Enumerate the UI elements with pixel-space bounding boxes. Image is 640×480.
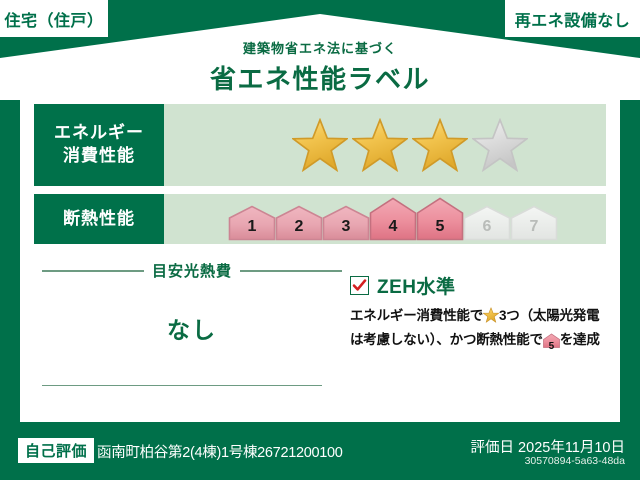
house-level-number: 2 bbox=[275, 218, 323, 236]
energy-performance-value bbox=[164, 104, 606, 186]
evaluation-date: 評価日 2025年11月10日 bbox=[471, 436, 625, 457]
utility-cost-block: 目安光熱費 なし bbox=[42, 260, 342, 345]
house-level-number: 3 bbox=[322, 218, 370, 236]
check-icon bbox=[352, 278, 367, 293]
heading-rule-right bbox=[240, 270, 342, 272]
label-panel: エネルギー 消費性能 断熱性能 1234567 目安光熱費 なし bbox=[20, 92, 620, 422]
badge-building-type: 住宅（住戸） bbox=[0, 0, 108, 37]
house-level-5: 5 bbox=[416, 197, 464, 241]
insulation-performance-row: 断熱性能 1234567 bbox=[34, 194, 606, 244]
house-level-number: 4 bbox=[369, 218, 417, 236]
zeh-desc-part-1: エネルギー消費性能で bbox=[350, 308, 483, 323]
zeh-title: ZEH水準 bbox=[377, 272, 456, 299]
utility-cost-heading-text: 目安光熱費 bbox=[152, 260, 232, 281]
utility-cost-value: なし bbox=[42, 311, 342, 345]
energy-label-line-2: 消費性能 bbox=[63, 145, 135, 168]
house-level-2: 2 bbox=[275, 205, 323, 241]
cost-bottom-divider bbox=[42, 385, 322, 386]
insulation-performance-value: 1234567 bbox=[164, 194, 606, 244]
house-level-4: 4 bbox=[369, 197, 417, 241]
zeh-block: ZEH水準 エネルギー消費性能で 3つ（太陽光発電は考慮しない）、かつ断熱性能で… bbox=[350, 272, 610, 355]
star-rating bbox=[292, 117, 528, 173]
title-subtitle: 建築物省エネ法に基づく bbox=[0, 38, 640, 57]
star-empty bbox=[472, 117, 528, 173]
zeh-checkbox[interactable] bbox=[350, 276, 369, 295]
zeh-desc-part-3: を達成 bbox=[560, 332, 600, 347]
energy-label-line-1: エネルギー bbox=[54, 122, 144, 145]
house-level-1: 1 bbox=[228, 205, 276, 241]
house-level-6: 6 bbox=[463, 205, 511, 241]
heading-rule-left bbox=[42, 270, 144, 272]
star-filled bbox=[292, 117, 348, 173]
house-level-number: 5 bbox=[416, 218, 464, 236]
zeh-heading: ZEH水準 bbox=[350, 272, 610, 299]
energy-performance-label: エネルギー 消費性能 bbox=[34, 104, 164, 186]
energy-label-page: { "badges": { "top_left": "住宅（住戸）", "top… bbox=[0, 0, 640, 480]
mini-star-icon bbox=[483, 307, 499, 330]
lower-section: 目安光熱費 なし ZEH水準 エネルギー消費性能で 3つ（太陽光発電は考慮しない… bbox=[20, 252, 620, 422]
insulation-performance-label: 断熱性能 bbox=[34, 194, 164, 244]
house-level-3: 3 bbox=[322, 205, 370, 241]
house-scale: 1234567 bbox=[228, 197, 557, 241]
star-filled bbox=[412, 117, 468, 173]
mini-house-icon: 5 bbox=[543, 333, 560, 355]
utility-cost-heading: 目安光熱費 bbox=[42, 260, 342, 281]
badge-renewable-energy: 再エネ設備なし bbox=[505, 0, 640, 37]
page-title: 省エネ性能ラベル bbox=[0, 59, 640, 96]
mini-house-level: 5 bbox=[543, 339, 560, 355]
energy-performance-row: エネルギー 消費性能 bbox=[34, 104, 606, 186]
label-title-block: 建築物省エネ法に基づく 省エネ性能ラベル bbox=[0, 38, 640, 96]
property-address: 函南町柏谷第2(4棟)1号棟26721200100 bbox=[97, 441, 343, 462]
evaluation-id: 30570894-5a63-48da bbox=[525, 455, 625, 467]
zeh-description: エネルギー消費性能で 3つ（太陽光発電は考慮しない）、かつ断熱性能で 5 を達成 bbox=[350, 306, 610, 355]
house-level-number: 6 bbox=[463, 218, 511, 236]
star-filled bbox=[352, 117, 408, 173]
insulation-label-text: 断熱性能 bbox=[63, 208, 135, 231]
house-level-number: 1 bbox=[228, 218, 276, 236]
house-level-number: 7 bbox=[510, 218, 558, 236]
self-assessment-badge: 自己評価 bbox=[18, 438, 94, 463]
house-level-7: 7 bbox=[510, 205, 558, 241]
footer: 自己評価 函南町柏谷第2(4棟)1号棟26721200100 評価日 2025年… bbox=[0, 430, 640, 480]
zeh-desc-star-count: 3つ bbox=[499, 308, 520, 323]
